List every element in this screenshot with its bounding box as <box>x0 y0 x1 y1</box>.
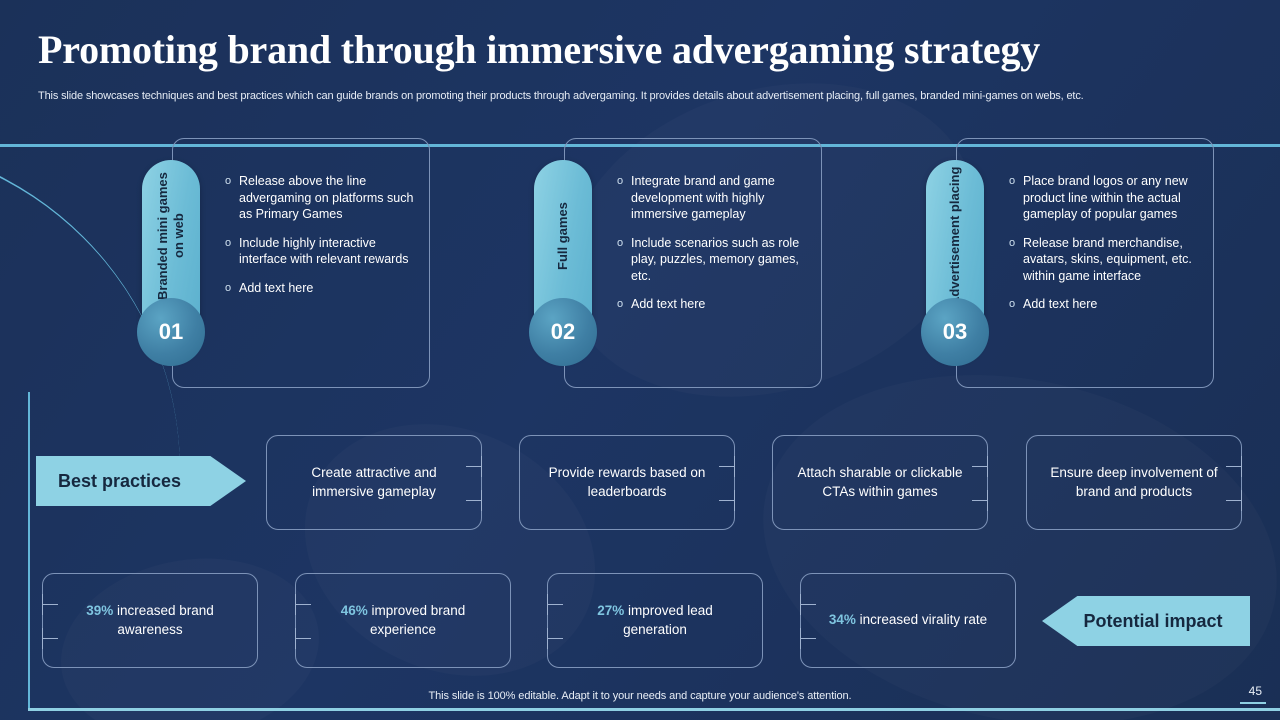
page-number-rule <box>1240 702 1266 704</box>
circle-outline-icon: o <box>617 173 631 223</box>
bracket-tick <box>1226 466 1242 467</box>
best-practice-text: Create attractive and immersive gameplay <box>283 464 465 500</box>
impact-percent: 27% <box>597 603 624 618</box>
bracket-tick <box>719 466 735 467</box>
decorative-horizontal-line-bottom <box>28 708 1280 711</box>
bullet-text: Include scenarios such as role play, puz… <box>631 235 813 285</box>
impact-label: improved lead generation <box>623 603 713 636</box>
bullet-text: Place brand logos or any new product lin… <box>1023 173 1205 223</box>
impact-text: 34% increased virality rate <box>829 611 987 629</box>
bullet-text: Integrate brand and game development wit… <box>631 173 813 223</box>
impact-label: improved brand experience <box>368 603 466 636</box>
best-practice-text: Ensure deep involvement of brand and pro… <box>1043 464 1225 500</box>
strategy-card-02[interactable]: o Integrate brand and game development w… <box>564 138 822 388</box>
circle-outline-icon: o <box>225 173 239 223</box>
impact-item-4[interactable]: 34% increased virality rate <box>800 573 1016 668</box>
page-subtitle: This slide showcases techniques and best… <box>38 90 1238 102</box>
bracket-tick <box>972 466 988 467</box>
strategy-pill-01[interactable]: Branded mini games on web 01 <box>142 160 200 360</box>
strategy-pill-03-label: Advertisement placing <box>926 166 984 306</box>
bullet-text: Add text here <box>631 296 705 313</box>
bracket-tick <box>466 466 482 467</box>
background-texture <box>263 378 636 720</box>
strategy-pill-02-label: Full games <box>534 166 592 306</box>
circle-outline-icon: o <box>1009 173 1023 223</box>
circle-outline-icon: o <box>617 235 631 285</box>
best-practices-banner: Best practices <box>36 456 246 506</box>
best-practice-text: Attach sharable or clickable CTAs within… <box>789 464 971 500</box>
bracket-tick <box>466 500 482 501</box>
footer-note: This slide is 100% editable. Adapt it to… <box>0 690 1280 702</box>
circle-outline-icon: o <box>617 296 631 313</box>
slide-canvas: Promoting brand through immersive adverg… <box>0 0 1280 720</box>
list-item: o Include scenarios such as role play, p… <box>617 235 813 285</box>
strategy-pill-02[interactable]: Full games 02 <box>534 160 592 360</box>
strategy-card-02-bullets: o Integrate brand and game development w… <box>617 173 813 325</box>
page-title: Promoting brand through immersive adverg… <box>38 26 1040 73</box>
bullet-text: Release brand merchandise, avatars, skin… <box>1023 235 1205 285</box>
strategy-number-badge-02: 02 <box>529 298 597 366</box>
strategy-pill-03[interactable]: Advertisement placing 03 <box>926 160 984 360</box>
best-practice-item-1[interactable]: Create attractive and immersive gameplay <box>266 435 482 530</box>
circle-outline-icon: o <box>225 235 239 268</box>
bracket-tick <box>1226 500 1242 501</box>
best-practice-item-2[interactable]: Provide rewards based on leaderboards <box>519 435 735 530</box>
circle-outline-icon: o <box>225 280 239 297</box>
potential-impact-banner: Potential impact <box>1042 596 1250 646</box>
list-item: o Release brand merchandise, avatars, sk… <box>1009 235 1205 285</box>
bullet-text: Include highly interactive interface wit… <box>239 235 421 268</box>
strategy-number-badge-03: 03 <box>921 298 989 366</box>
bracket-tick <box>800 638 816 639</box>
strategy-card-01-bullets: o Release above the line advergaming on … <box>225 173 421 308</box>
bracket-tick <box>42 604 58 605</box>
bracket-tick <box>800 604 816 605</box>
bracket-tick <box>547 638 563 639</box>
list-item: o Include highly interactive interface w… <box>225 235 421 268</box>
list-item: o Place brand logos or any new product l… <box>1009 173 1205 223</box>
page-number: 45 <box>1249 684 1262 698</box>
circle-outline-icon: o <box>1009 235 1023 285</box>
list-item: o Release above the line advergaming on … <box>225 173 421 223</box>
impact-item-3[interactable]: 27% improved lead generation <box>547 573 763 668</box>
impact-item-2[interactable]: 46% improved brand experience <box>295 573 511 668</box>
bullet-text: Add text here <box>239 280 313 297</box>
impact-label: increased virality rate <box>856 612 987 627</box>
impact-text: 46% improved brand experience <box>312 602 494 638</box>
bullet-text: Release above the line advergaming on pl… <box>239 173 421 223</box>
strategy-card-01[interactable]: o Release above the line advergaming on … <box>172 138 430 388</box>
best-practice-item-3[interactable]: Attach sharable or clickable CTAs within… <box>772 435 988 530</box>
impact-item-1[interactable]: 39% increased brand awareness <box>42 573 258 668</box>
impact-label: increased brand awareness <box>113 603 214 636</box>
list-item: o Add text here <box>1009 296 1205 313</box>
bracket-tick <box>295 604 311 605</box>
bracket-tick <box>42 638 58 639</box>
best-practice-text: Provide rewards based on leaderboards <box>536 464 718 500</box>
best-practice-item-4[interactable]: Ensure deep involvement of brand and pro… <box>1026 435 1242 530</box>
strategy-card-03[interactable]: o Place brand logos or any new product l… <box>956 138 1214 388</box>
impact-text: 39% increased brand awareness <box>59 602 241 638</box>
impact-percent: 39% <box>86 603 113 618</box>
list-item: o Integrate brand and game development w… <box>617 173 813 223</box>
impact-text: 27% improved lead generation <box>564 602 746 638</box>
list-item: o Add text here <box>225 280 421 297</box>
bullet-text: Add text here <box>1023 296 1097 313</box>
circle-outline-icon: o <box>1009 296 1023 313</box>
bracket-tick <box>972 500 988 501</box>
list-item: o Add text here <box>617 296 813 313</box>
decorative-vertical-line <box>28 392 30 710</box>
bracket-tick <box>295 638 311 639</box>
strategy-pill-01-label: Branded mini games on web <box>142 166 200 306</box>
impact-percent: 46% <box>341 603 368 618</box>
impact-percent: 34% <box>829 612 856 627</box>
strategy-cards-row: o Release above the line advergaming on … <box>0 138 1280 393</box>
bracket-tick <box>547 604 563 605</box>
bracket-tick <box>719 500 735 501</box>
strategy-number-badge-01: 01 <box>137 298 205 366</box>
strategy-card-03-bullets: o Place brand logos or any new product l… <box>1009 173 1205 325</box>
